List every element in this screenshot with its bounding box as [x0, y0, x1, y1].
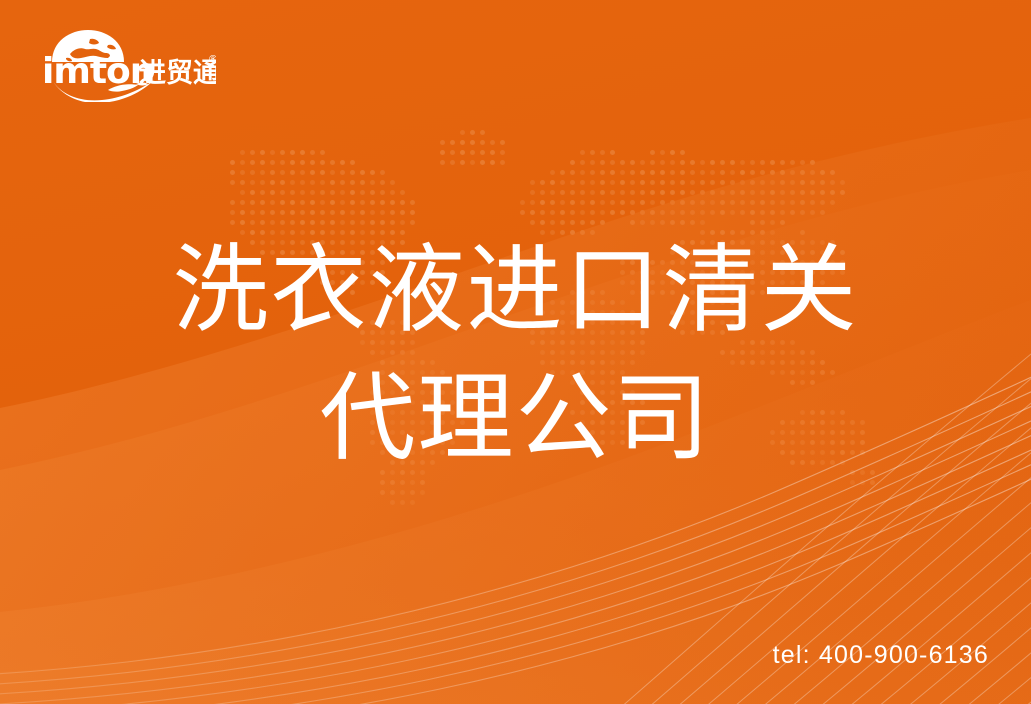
promo-banner: imton 进贸通 ® 洗衣液进口清关 代理公司 tel: 400-900-61… [0, 0, 1031, 704]
brand-logo[interactable]: imton 进贸通 ® [36, 28, 216, 102]
registered-trademark-icon: ® [208, 54, 216, 65]
logo-wordmark: imton [42, 51, 154, 92]
page-title: 洗衣液进口清关 代理公司 [0, 226, 1031, 482]
headline-line-1: 洗衣液进口清关 [0, 226, 1031, 354]
contact-phone[interactable]: tel: 400-900-6136 [773, 641, 989, 670]
headline-line-2: 代理公司 [0, 354, 1031, 482]
logo-chinese-name: 进贸通 [139, 58, 216, 89]
